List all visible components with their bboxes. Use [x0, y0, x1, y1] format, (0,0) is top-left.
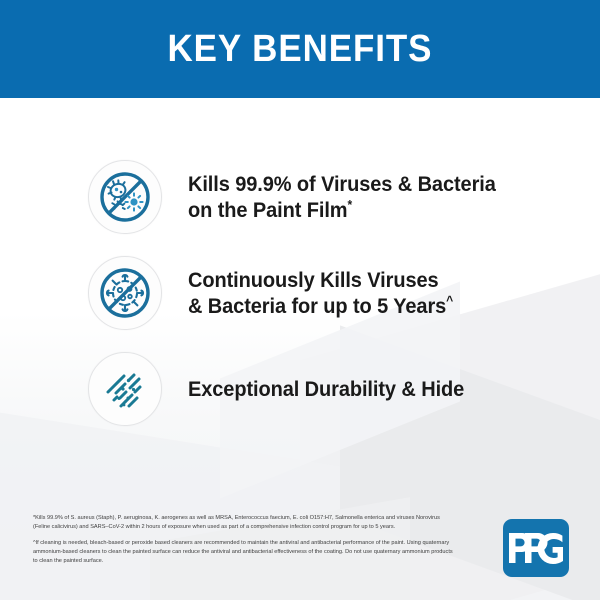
no-bacteria-icon [88, 160, 162, 234]
benefit-item-2: Continuously Kills Viruses & Bacteria fo… [0, 256, 600, 330]
benefit-item-3: Exceptional Durability & Hide [0, 352, 600, 426]
footnote-2: ^If cleaning is needed, bleach-based or … [33, 539, 453, 566]
no-virus-icon [88, 256, 162, 330]
ppg-logo [503, 519, 569, 577]
page-title: KEY BENEFITS [168, 28, 433, 71]
benefit-label-2: Continuously Kills Viruses & Bacteria fo… [188, 267, 453, 320]
benefit-footnote-marker-1: * [347, 197, 352, 212]
key-benefits-infographic: KEY BENEFITS [0, 0, 600, 600]
header-banner: KEY BENEFITS [0, 0, 600, 98]
benefit-footnote-marker-2: ^ [446, 293, 453, 308]
benefit-text-1: Kills 99.9% of Viruses & Bacteria on the… [188, 172, 496, 222]
benefits-list: Kills 99.9% of Viruses & Bacteria on the… [0, 160, 600, 448]
footnote-1: *Kills 99.9% of S. aureus (Staph), P. ae… [33, 514, 453, 532]
paint-strokes-icon [88, 352, 162, 426]
benefit-label-1: Kills 99.9% of Viruses & Bacteria on the… [188, 171, 496, 224]
benefit-text-2: Continuously Kills Viruses & Bacteria fo… [188, 268, 446, 318]
benefit-item-1: Kills 99.9% of Viruses & Bacteria on the… [0, 160, 600, 234]
benefit-label-3: Exceptional Durability & Hide [188, 376, 464, 402]
benefit-text-3: Exceptional Durability & Hide [188, 377, 464, 401]
footnotes-block: *Kills 99.9% of S. aureus (Staph), P. ae… [33, 514, 453, 573]
